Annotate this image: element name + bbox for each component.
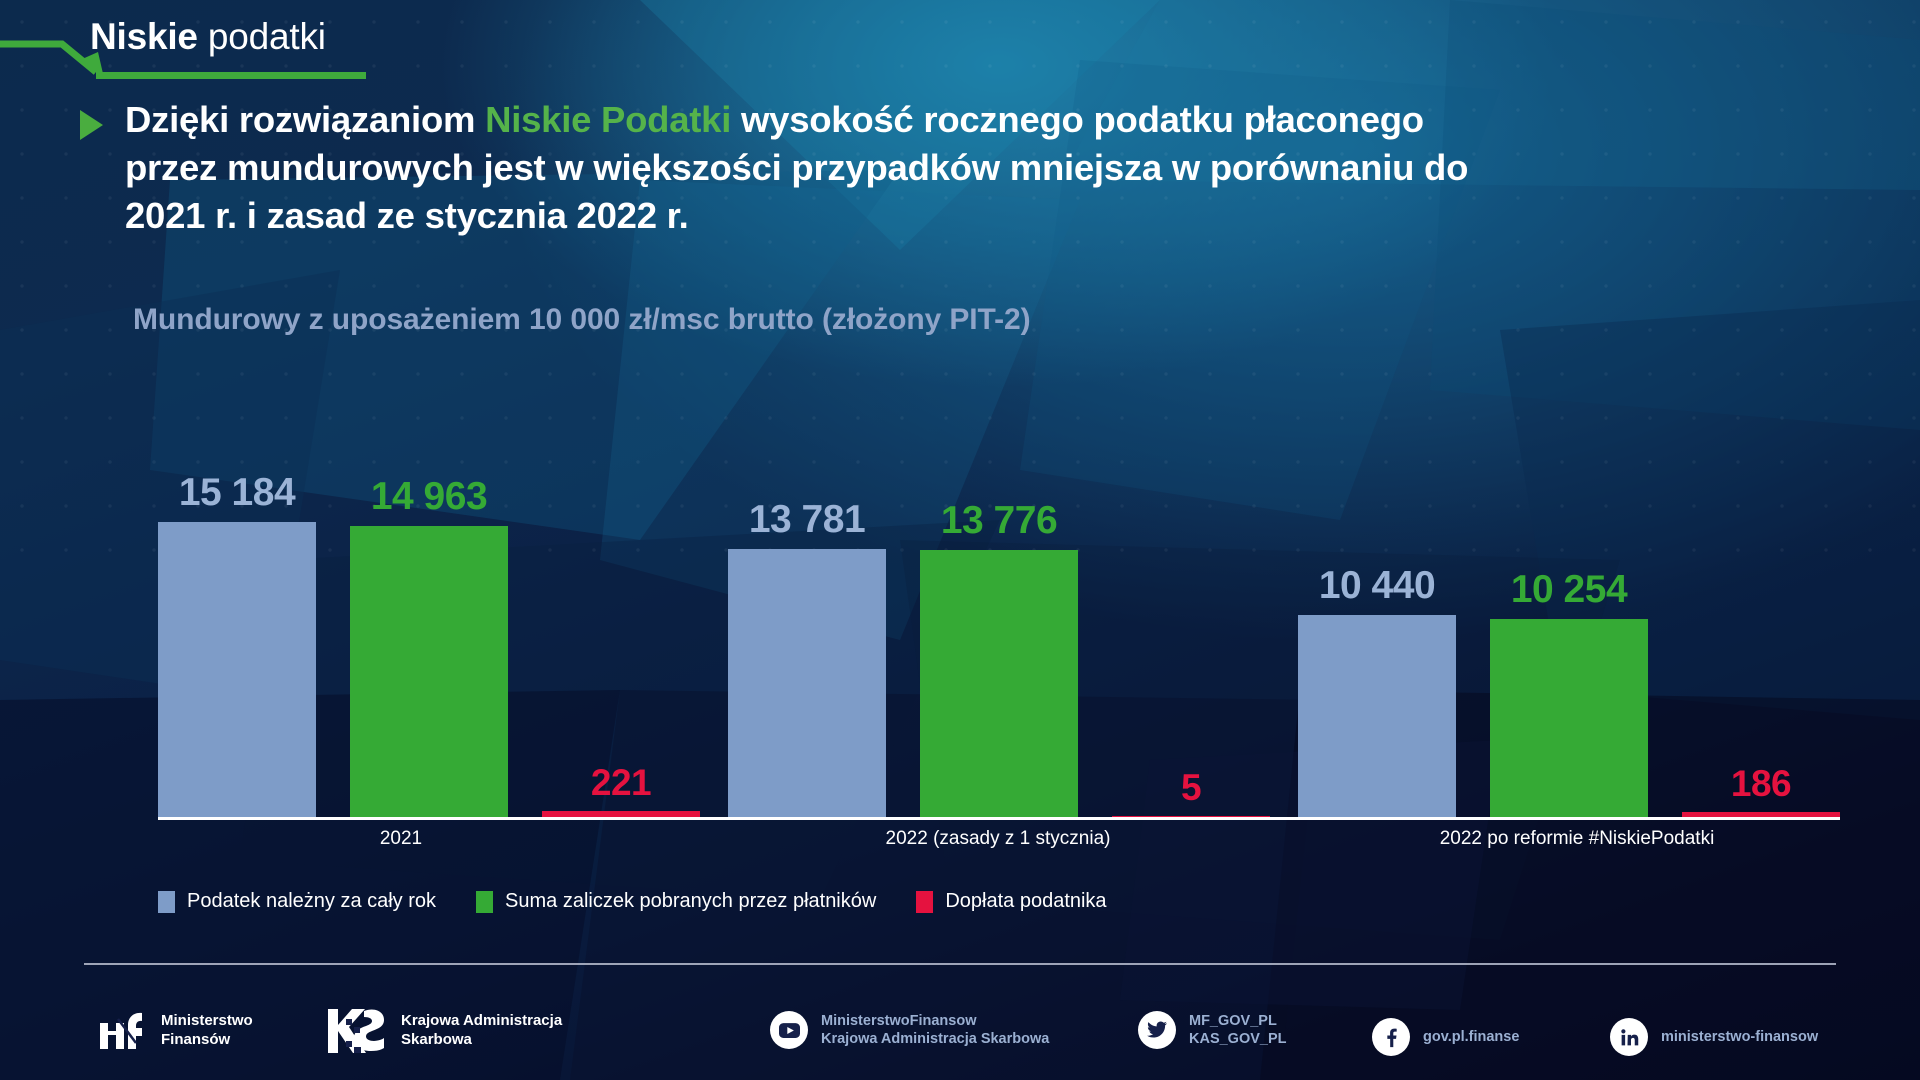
footer-social-facebook[interactable]: gov.pl.finanse — [1372, 1018, 1519, 1056]
bar-chart: 15 184 14 963 221 13 781 13 7 — [158, 390, 1840, 820]
legend-item-podatek[interactable]: Podatek należny za cały rok — [158, 890, 436, 913]
legend-label-red: Dopłata podatnika — [945, 890, 1106, 913]
bar-col-blue-2021: 15 184 — [158, 390, 316, 820]
headline-block: Dzięki rozwiązaniom Niskie Podatki wysok… — [80, 96, 1520, 239]
footer-kas-text: Krajowa Administracja Skarbowa — [401, 1012, 562, 1050]
footer-logo-ministerstwo: Ministerstwo Finansów — [96, 1009, 253, 1053]
footer-divider — [84, 963, 1836, 965]
bar-value-green-2022s: 13 776 — [941, 501, 1057, 540]
footer-ministerstwo-text: Ministerstwo Finansów — [161, 1012, 253, 1050]
x-axis-labels: 2021 2022 (zasady z 1 stycznia) 2022 po … — [158, 828, 1840, 862]
footer-twitter-text: MF_GOV_PL KAS_GOV_PL — [1189, 1012, 1287, 1048]
legend-item-zaliczki[interactable]: Suma zaliczek pobranych przez płatników — [476, 890, 876, 913]
legend-swatch-red — [916, 891, 933, 913]
bar-value-red-2021: 221 — [591, 764, 651, 801]
footer-logo-kas: Krajowa Administracja Skarbowa — [324, 1005, 562, 1057]
bar-col-red-2022s: 5 — [1112, 390, 1270, 820]
footer-facebook-text: gov.pl.finanse — [1423, 1028, 1519, 1046]
legend-swatch-green — [476, 891, 493, 913]
facebook-icon — [1372, 1018, 1410, 1056]
footer-linkedin-text: ministerstwo-finansow — [1661, 1028, 1818, 1046]
bar-group-2022-reforma: 10 440 10 254 186 — [1298, 390, 1840, 820]
bar-green-2022r[interactable] — [1490, 619, 1648, 820]
footer: Ministerstwo Finansów Krajowa Administra… — [0, 995, 1920, 1075]
bar-group-2021: 15 184 14 963 221 — [158, 390, 700, 820]
x-label-2022-styczen: 2022 (zasady z 1 stycznia) — [886, 828, 1111, 850]
bar-col-blue-2022r: 10 440 — [1298, 390, 1456, 820]
brand-logo: Niskie podatki — [78, 14, 326, 78]
footer-twitter-line1: MF_GOV_PL — [1189, 1013, 1277, 1029]
kas-logo-icon — [324, 1005, 388, 1057]
footer-youtube-line2: Krajowa Administracja Skarbowa — [821, 1031, 1049, 1047]
footer-ministerstwo-line2: Finansów — [161, 1031, 230, 1048]
linkedin-icon — [1610, 1018, 1648, 1056]
footer-youtube-line1: MinisterstwoFinansow — [821, 1013, 977, 1029]
page-title: Dzięki rozwiązaniom Niskie Podatki wysok… — [125, 96, 1520, 239]
bar-blue-2022s[interactable] — [728, 549, 886, 820]
chart-subtitle: Mundurowy z uposażeniem 10 000 zł/msc br… — [133, 303, 1030, 337]
bar-green-2021[interactable] — [350, 526, 508, 820]
bar-blue-2022r[interactable] — [1298, 615, 1456, 820]
bar-group-2022-styczen: 13 781 13 776 5 — [728, 390, 1270, 820]
bar-groups: 15 184 14 963 221 13 781 13 7 — [158, 390, 1840, 820]
legend-label-blue: Podatek należny za cały rok — [187, 890, 436, 913]
bar-value-blue-2022s: 13 781 — [749, 500, 865, 539]
bar-value-blue-2022r: 10 440 — [1319, 566, 1435, 605]
bar-value-red-2022r: 186 — [1731, 765, 1791, 802]
green-arrow-icon — [0, 22, 360, 80]
footer-linkedin-line1: ministerstwo-finansow — [1661, 1029, 1818, 1045]
chart-legend: Podatek należny za cały rok Suma zalicze… — [158, 890, 1107, 913]
bar-col-green-2022s: 13 776 — [920, 390, 1078, 820]
bar-value-blue-2021: 15 184 — [179, 473, 295, 512]
youtube-icon — [770, 1011, 808, 1049]
x-label-2021: 2021 — [380, 828, 422, 850]
legend-item-doplata[interactable]: Dopłata podatnika — [916, 890, 1106, 913]
bar-col-red-2022r: 186 — [1682, 390, 1840, 820]
footer-kas-line2: Skarbowa — [401, 1031, 472, 1048]
legend-swatch-blue — [158, 891, 175, 913]
bar-value-red-2022s: 5 — [1181, 769, 1201, 806]
bar-value-green-2021: 14 963 — [371, 477, 487, 516]
footer-social-twitter[interactable]: MF_GOV_PL KAS_GOV_PL — [1138, 1011, 1287, 1049]
footer-kas-line1: Krajowa Administracja — [401, 1012, 562, 1029]
bar-green-2022s[interactable] — [920, 550, 1078, 820]
infographic-poster: Niskie podatki Dzięki rozwiązaniom Niski… — [0, 0, 1920, 1080]
legend-label-green: Suma zaliczek pobranych przez płatników — [505, 890, 876, 913]
chart-baseline — [158, 817, 1840, 820]
footer-twitter-line2: KAS_GOV_PL — [1189, 1031, 1287, 1047]
bar-value-green-2022r: 10 254 — [1511, 570, 1627, 609]
footer-social-youtube[interactable]: MinisterstwoFinansow Krajowa Administrac… — [770, 1011, 1049, 1049]
play-triangle-icon — [80, 110, 103, 140]
bar-col-red-2021: 221 — [542, 390, 700, 820]
footer-youtube-text: MinisterstwoFinansow Krajowa Administrac… — [821, 1012, 1049, 1048]
x-label-2022-reforma: 2022 po reformie #NiskiePodatki — [1440, 828, 1715, 850]
footer-ministerstwo-line1: Ministerstwo — [161, 1012, 253, 1029]
footer-social-linkedin[interactable]: ministerstwo-finansow — [1610, 1018, 1818, 1056]
headline-part1: Dzięki rozwiązaniom — [125, 99, 485, 140]
headline-highlight: Niskie Podatki — [485, 99, 731, 140]
mf-logo-icon — [96, 1009, 148, 1053]
bar-blue-2021[interactable] — [158, 522, 316, 820]
footer-facebook-line1: gov.pl.finanse — [1423, 1029, 1519, 1045]
bar-col-green-2021: 14 963 — [350, 390, 508, 820]
twitter-icon — [1138, 1011, 1176, 1049]
bar-col-green-2022r: 10 254 — [1490, 390, 1648, 820]
bar-col-blue-2022s: 13 781 — [728, 390, 886, 820]
